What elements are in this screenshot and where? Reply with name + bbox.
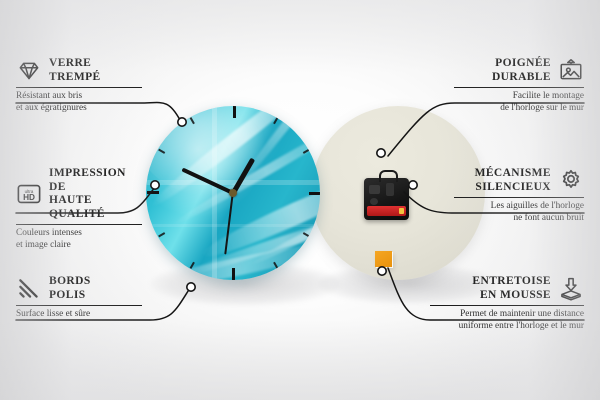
feature-poignee-durable: POIGNÉE DURABLE Facilite le montage de l… [454, 57, 584, 114]
feature-title: POIGNÉE DURABLE [492, 57, 551, 84]
hanger-loop-icon [379, 170, 398, 182]
gear-icon [558, 168, 584, 194]
svg-text:HD: HD [23, 193, 35, 202]
mechanism-detail [370, 198, 378, 205]
feature-rule [430, 305, 584, 306]
foam-spacer [375, 251, 392, 267]
feature-impression-haute-qualite: ultra HD IMPRESSION DE HAUTE QUALITÉ Cou… [16, 167, 142, 251]
clock-mechanism [364, 178, 409, 220]
infographic-canvas: VERRE TREMPÉ Résistant aux bris et aux é… [0, 0, 600, 400]
feature-description: Facilite le montage de l'horloge sur le … [454, 91, 584, 114]
feature-mecanisme-silencieux: MÉCANISME SILENCIEUX Les aiguilles de l'… [454, 167, 584, 224]
battery [367, 206, 406, 216]
diagonal-stripes-icon [16, 276, 42, 302]
ultra-hd-badge-icon: ultra HD [16, 181, 42, 207]
hands-center-pin [229, 189, 237, 197]
feature-rule [16, 305, 142, 306]
feature-title: BORDS POLIS [49, 275, 91, 302]
mechanism-detail [386, 183, 394, 196]
feature-bords-polis: BORDS POLIS Surface lisse et sûre [16, 275, 142, 321]
arrow-onto-pad-icon [558, 276, 584, 302]
feature-description: Permet de maintenir une distance uniform… [430, 309, 584, 332]
feature-rule [16, 224, 142, 225]
feature-rule [16, 87, 142, 88]
feature-entretoise-en-mousse: ENTRETOISE EN MOUSSE Permet de maintenir… [430, 275, 584, 332]
feature-description: Les aiguilles de l'horloge ne font aucun… [454, 201, 584, 224]
feature-title: VERRE TREMPÉ [49, 57, 101, 84]
feature-rule [454, 197, 584, 198]
diamond-icon [16, 58, 42, 84]
feature-description: Couleurs intenses et image claire [16, 228, 142, 251]
picture-hanger-icon [558, 58, 584, 84]
feature-description: Surface lisse et sûre [16, 309, 142, 320]
feature-verre-trempe: VERRE TREMPÉ Résistant aux bris et aux é… [16, 57, 142, 114]
mechanism-detail [369, 185, 380, 194]
clock-front-face [146, 106, 320, 280]
feature-description: Résistant aux bris et aux égratignures [16, 91, 142, 114]
feature-rule [454, 87, 584, 88]
feature-title: ENTRETOISE EN MOUSSE [472, 275, 551, 302]
feature-title: MÉCANISME SILENCIEUX [475, 167, 551, 194]
feature-title: IMPRESSION DE HAUTE QUALITÉ [49, 167, 142, 221]
